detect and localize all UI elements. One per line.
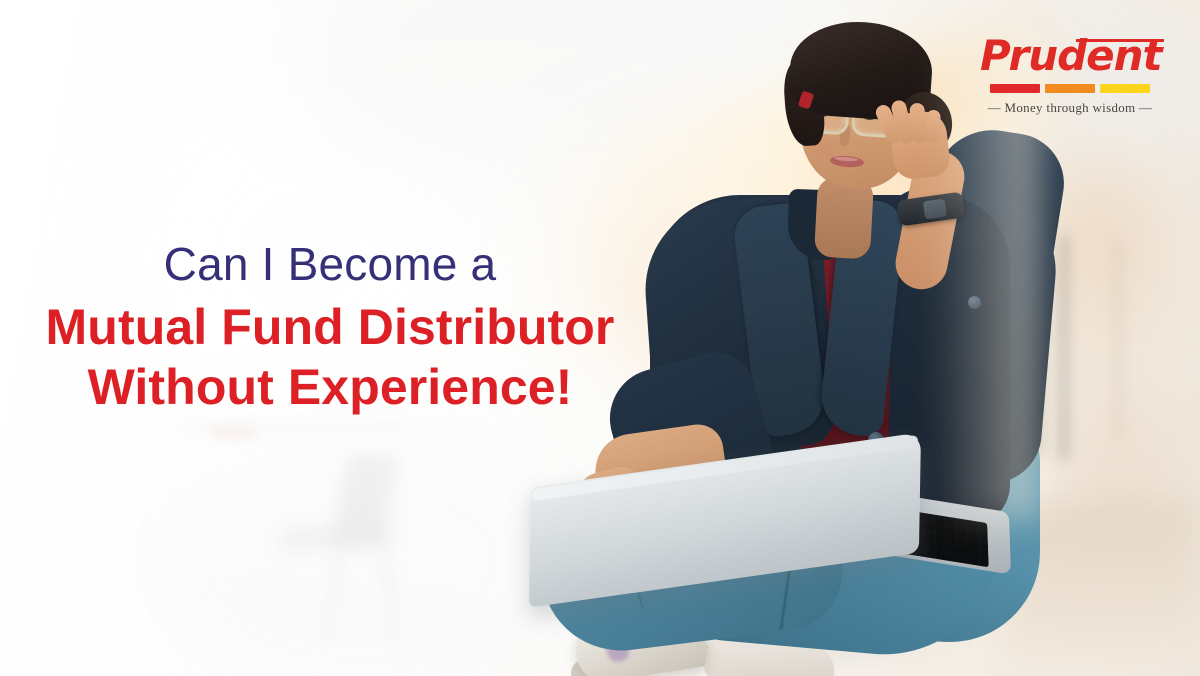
logo-wordmark: Prudent: [980, 34, 1162, 78]
background-chair: [322, 540, 346, 640]
background-desk: [180, 420, 410, 432]
headline-line-1: Can I Become a: [0, 234, 660, 294]
background-chair: [379, 540, 399, 640]
neck: [814, 177, 874, 260]
headline-block: Can I Become a Mutual Fund Distributor W…: [0, 234, 660, 418]
prudent-logo[interactable]: Prudent — Money through wisdom —: [980, 34, 1160, 116]
logo-bar-yellow: [1100, 84, 1150, 93]
logo-tagline: — Money through wisdom —: [980, 100, 1160, 116]
headline-line-3: Without Experience!: [0, 356, 660, 418]
background-chair: [279, 520, 390, 552]
background-desk-accent: [212, 430, 256, 436]
headline-line-2: Mutual Fund Distributor: [0, 296, 660, 358]
logo-color-bars: [980, 84, 1160, 93]
marketing-banner: Can I Become a Mutual Fund Distributor W…: [0, 0, 1200, 676]
logo-bar-orange: [1045, 84, 1095, 93]
background-chair: [332, 454, 399, 546]
logo-overline-rule: [1076, 39, 1164, 42]
logo-bar-red: [990, 84, 1040, 93]
